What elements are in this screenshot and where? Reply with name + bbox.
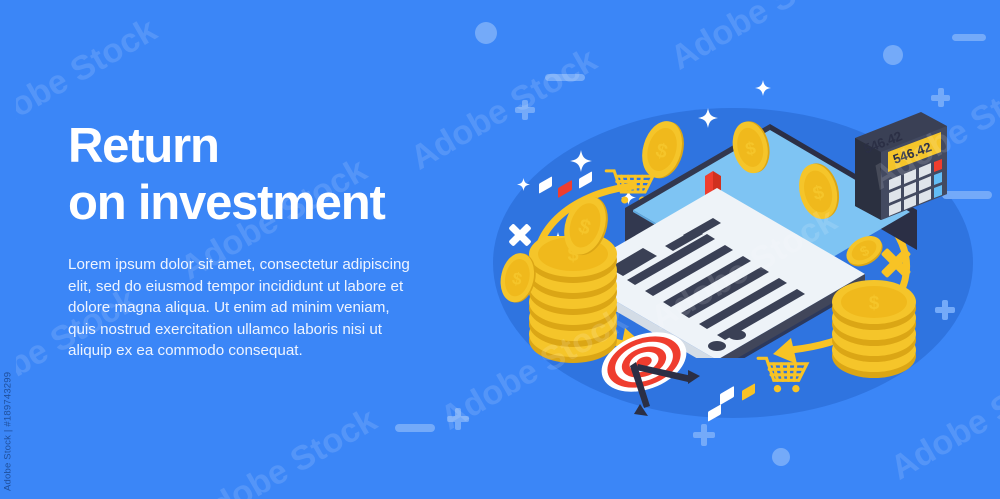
copy-block: Return on investment Lorem ipsum dolor s… <box>68 118 468 362</box>
decor-dash-bottom <box>395 424 435 432</box>
decor-plus-bottom-left <box>447 408 469 430</box>
decor-dot-upper-left <box>475 22 497 44</box>
sparkle-4 <box>755 80 771 96</box>
decor-plus-lower-right <box>693 424 715 446</box>
decor-plus-upper-right <box>931 88 950 107</box>
page-title: Return on investment <box>68 118 468 232</box>
stock-id-label: Adobe Stock | #189743299 <box>3 372 14 491</box>
decor-dash-top <box>545 74 585 81</box>
stock-id-strip: Adobe Stock | #189743299 <box>0 0 16 499</box>
decor-plus-far-right <box>935 300 955 320</box>
decor-dot-lower-right <box>772 448 790 466</box>
decor-plus-upper-left <box>515 100 535 120</box>
svg-text:$: $ <box>869 293 880 314</box>
illustration-group: 546.42 546.42 <box>455 0 1000 499</box>
decor-dot-right <box>883 45 903 65</box>
watermark-text: Adobe Stock <box>184 401 383 499</box>
illustration-canvas: Return on investment Lorem ipsum dolor s… <box>0 0 1000 499</box>
calculator: 546.42 <box>847 108 957 228</box>
coin-stack-right: $ <box>827 280 921 384</box>
decor-dash-right-2 <box>952 34 986 41</box>
body-paragraph: Lorem ipsum dolor sit amet, consectetur … <box>68 254 418 362</box>
